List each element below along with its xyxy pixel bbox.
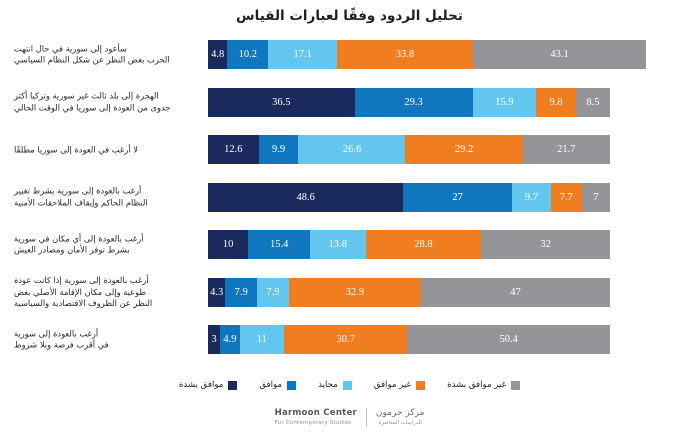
legend-swatch-icon (416, 381, 425, 390)
logo-english-main: Harmoon Center (275, 408, 357, 419)
bar-segment-value: 36.5 (272, 97, 290, 108)
chart-row-label-line: النظر عن الظروف الاقتصادية والسياسية (14, 298, 202, 310)
bar-segment-value: 4.3 (210, 287, 223, 298)
bar-segment[interactable]: 7.9 (225, 278, 257, 307)
bar-segment-value: 13.8 (329, 239, 347, 250)
chart-row: سأعود إلى سورية في حال انتهتالحرب بغض ال… (0, 40, 699, 69)
bar-segment[interactable]: 4.9 (220, 325, 240, 354)
bar-segment-value: 7 (593, 192, 598, 203)
bar-segment[interactable]: 3 (208, 325, 220, 354)
chart-row-label-line: أرغب بالعودة إلى سورية بشرط تغيير (14, 186, 202, 198)
bar-segment-value: 4.9 (223, 334, 236, 345)
bar-segment[interactable]: 32.9 (289, 278, 421, 307)
page-title: تحليل الردود وفقًا لعبارات القياس (0, 8, 699, 24)
bar-segment[interactable]: 11 (240, 325, 284, 354)
bar-segment-value: 43.1 (550, 49, 568, 60)
bar-segment[interactable]: 26.6 (298, 135, 405, 164)
chart-row-label: سأعود إلى سورية في حال انتهتالحرب بغض ال… (14, 43, 202, 66)
bar-segment-value: 8.5 (586, 97, 599, 108)
legend-label: موافق بشدة (179, 380, 224, 390)
chart-row-label-line: أرغب بالعودة إلى سورية إذا كانت عودة (14, 275, 202, 287)
stacked-bar: 36.529.315.99.88.5 (208, 88, 610, 117)
bar-segment-value: 4.8 (211, 49, 224, 60)
legend-swatch-icon (287, 381, 296, 390)
logo-english-sub: For Contemporary Studies (275, 419, 357, 427)
bar-segment[interactable]: 7.7 (551, 183, 582, 212)
legend-label: غير موافق بشدة (447, 380, 506, 390)
bar-segment[interactable]: 15.9 (473, 88, 537, 117)
chart-row-label-line: سأعود إلى سورية في حال انتهت (14, 43, 202, 55)
bar-segment-value: 7.7 (560, 192, 573, 203)
legend-item[interactable]: موافق (259, 380, 296, 390)
chart-row-label: أرغب بالعودة إلى سوريةفي أقرب فرصة وبلا … (14, 328, 202, 351)
legend-swatch-icon (343, 381, 352, 390)
bar-segment-value: 9.9 (272, 144, 285, 155)
bar-segment-value: 17.1 (293, 49, 311, 60)
stacked-bar: 4.810.217.133.843.1 (208, 40, 646, 69)
legend-label: موافق (259, 380, 282, 390)
chart-row-label: أرغب بالعودة إلى أي مكان في سوريةبشرط تو… (14, 233, 202, 256)
bar-segment-value: 29.3 (404, 97, 422, 108)
legend-swatch-icon (228, 381, 237, 390)
bar-segment-value: 12.6 (224, 144, 242, 155)
chart-row: أرغب بالعودة إلى سورية إذا كانت عودةطوعي… (0, 278, 699, 307)
chart-row-label: أرغب بالعودة إلى سورية بشرط تغييرالنظام … (14, 186, 202, 209)
bar-segment[interactable]: 21.7 (523, 135, 610, 164)
bar-segment-value: 7.9 (266, 287, 279, 298)
bar-segment[interactable]: 4.3 (208, 278, 225, 307)
chart-row-label-line: جدوى من العودة إلى سوريا في الوقت الحالي (14, 102, 202, 114)
chart-row-label-line: في أقرب فرصة وبلا شروط (14, 340, 202, 352)
logo-english: Harmoon Center For Contemporary Studies (275, 408, 357, 427)
stacked-bar-chart: سأعود إلى سورية في حال انتهتالحرب بغض ال… (0, 38, 699, 370)
bar-segment[interactable]: 32 (481, 230, 610, 259)
legend-label: غير موافق (374, 380, 411, 390)
bar-segment-value: 9.8 (550, 97, 563, 108)
chart-row-label: أرغب بالعودة إلى سورية إذا كانت عودةطوعي… (14, 275, 202, 310)
logo-arabic-sub: للدراسات المعاصرة (376, 419, 425, 427)
bar-segment-value: 29.2 (455, 144, 473, 155)
chart-row-label-line: الحرب بغض النظر عن شكل النظام السياسي (14, 55, 202, 67)
bar-segment-value: 15.9 (495, 97, 513, 108)
bar-segment[interactable]: 13.8 (310, 230, 365, 259)
bar-segment[interactable]: 48.6 (208, 183, 403, 212)
stacked-bar: 1015.413.828.832 (208, 230, 610, 259)
bar-segment[interactable]: 43.1 (473, 40, 646, 69)
bar-segment[interactable]: 7.9 (257, 278, 289, 307)
chart-row: أرغب بالعودة إلى أي مكان في سوريةبشرط تو… (0, 230, 699, 259)
stacked-bar: 4.37.97.932.947 (208, 278, 610, 307)
legend-label: محايد (318, 380, 338, 390)
bar-segment-value: 9.7 (525, 192, 538, 203)
bar-segment[interactable]: 4.8 (208, 40, 227, 69)
chart-row: لا أرغب في العودة إلى سوريا مطلقًا12.69.… (0, 135, 699, 164)
chart-row-label: الهجرة إلى بلد ثالث غير سورية وتركيا أكث… (14, 91, 202, 114)
bar-segment[interactable]: 10 (208, 230, 248, 259)
bar-segment-value: 50.4 (499, 334, 517, 345)
bar-segment-value: 15.4 (270, 239, 288, 250)
bar-segment[interactable]: 15.4 (248, 230, 310, 259)
stacked-bar: 34.91130.750.4 (208, 325, 610, 354)
bar-segment[interactable]: 47 (421, 278, 610, 307)
logo-arabic: مركز حرمون للدراسات المعاصرة (376, 408, 425, 427)
bar-segment-value: 48.6 (296, 192, 314, 203)
chart-row: أرغب بالعودة إلى سورية بشرط تغييرالنظام … (0, 183, 699, 212)
stacked-bar: 12.69.926.629.221.7 (208, 135, 610, 164)
bar-segment[interactable]: 9.9 (259, 135, 299, 164)
chart-row-label-line: طوعية وإلى مكان الإقامة الأصلي بغض (14, 286, 202, 298)
chart-row-label-line: أرغب بالعودة إلى سورية (14, 328, 202, 340)
bar-segment[interactable]: 12.6 (208, 135, 259, 164)
chart-row-label: لا أرغب في العودة إلى سوريا مطلقًا (14, 144, 202, 156)
bar-segment-value: 30.7 (336, 334, 354, 345)
bar-segment[interactable]: 8.5 (576, 88, 610, 117)
bar-segment[interactable]: 36.5 (208, 88, 355, 117)
bar-segment-value: 32 (540, 239, 551, 250)
bar-segment[interactable]: 30.7 (284, 325, 407, 354)
bar-segment[interactable]: 7 (582, 183, 610, 212)
bar-segment-value: 10 (223, 239, 234, 250)
bar-segment-value: 3 (211, 334, 216, 345)
bar-segment-value: 7.9 (235, 287, 248, 298)
chart-row-label-line: لا أرغب في العودة إلى سوريا مطلقًا (14, 144, 202, 156)
bar-segment[interactable]: 50.4 (407, 325, 610, 354)
logo-arabic-main: مركز حرمون (376, 408, 425, 419)
bar-segment-value: 26.6 (343, 144, 361, 155)
bar-segment-value: 21.7 (557, 144, 575, 155)
bar-segment-value: 28.8 (414, 239, 432, 250)
legend-item[interactable]: غير موافق (374, 380, 425, 390)
bar-segment[interactable]: 27 (403, 183, 512, 212)
legend-item[interactable]: غير موافق بشدة (447, 380, 520, 390)
bar-segment[interactable]: 9.8 (536, 88, 575, 117)
stacked-bar: 48.6279.77.77 (208, 183, 610, 212)
logo-divider (366, 408, 367, 427)
legend-item[interactable]: محايد (318, 380, 352, 390)
bar-segment[interactable]: 29.2 (405, 135, 522, 164)
bar-segment-value: 47 (510, 287, 521, 298)
chart-row-label-line: أرغب بالعودة إلى أي مكان في سورية (14, 233, 202, 245)
bar-segment[interactable]: 17.1 (268, 40, 337, 69)
bar-segment-value: 10.2 (239, 49, 257, 60)
chart-page: تحليل الردود وفقًا لعبارات القياس سأعود … (0, 0, 699, 437)
legend-swatch-icon (511, 381, 520, 390)
bar-segment-value: 32.9 (346, 287, 364, 298)
chart-row-label-line: النظام الحاكم وإيقاف الملاحقات الأمنية (14, 197, 202, 209)
bar-segment[interactable]: 10.2 (227, 40, 268, 69)
bar-segment-value: 33.8 (396, 49, 414, 60)
chart-row: أرغب بالعودة إلى سوريةفي أقرب فرصة وبلا … (0, 325, 699, 354)
harmoon-logo: مركز حرمون للدراسات المعاصرة Harmoon Cen… (275, 408, 425, 427)
chart-row: الهجرة إلى بلد ثالث غير سورية وتركيا أكث… (0, 88, 699, 117)
footer: مركز حرمون للدراسات المعاصرة Harmoon Cen… (0, 408, 699, 427)
chart-legend: موافق بشدةموافقمحايدغير موافقغير موافق ب… (0, 375, 699, 395)
legend-item[interactable]: موافق بشدة (179, 380, 238, 390)
chart-row-label-line: بشرط توفر الأمان ومصادر العيش (14, 245, 202, 257)
bar-segment[interactable]: 28.8 (366, 230, 482, 259)
bar-segment[interactable]: 9.7 (512, 183, 551, 212)
chart-row-label-line: الهجرة إلى بلد ثالث غير سورية وتركيا أكث… (14, 91, 202, 103)
bar-segment-value: 27 (452, 192, 463, 203)
bar-segment[interactable]: 33.8 (337, 40, 473, 69)
bar-segment[interactable]: 29.3 (355, 88, 473, 117)
bar-segment-value: 11 (257, 334, 267, 345)
